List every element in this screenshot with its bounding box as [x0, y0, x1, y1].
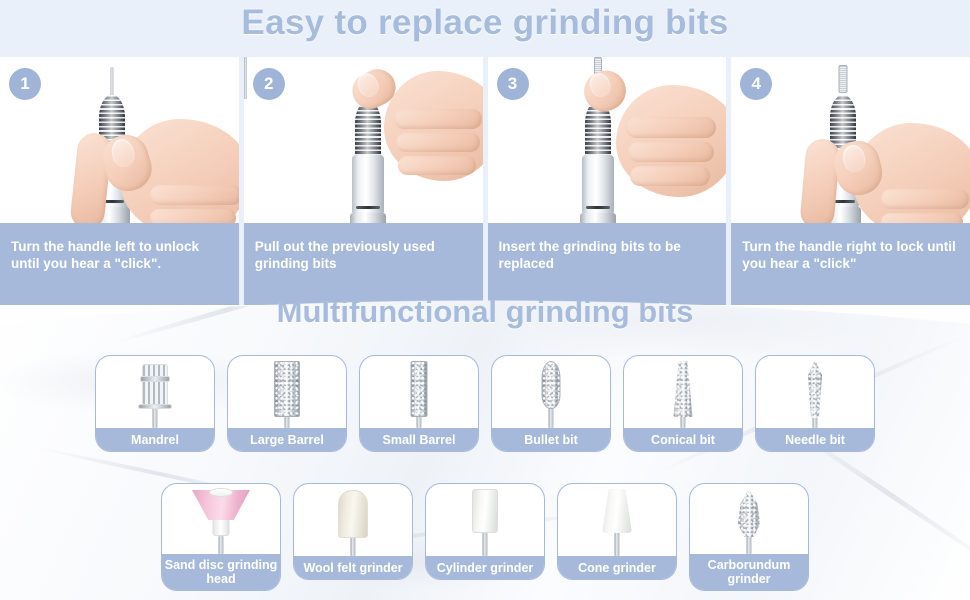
hand-removing-bit [244, 57, 247, 99]
conical-bit-icon [624, 356, 742, 428]
bit-label: Cone grinder [558, 556, 676, 579]
bit-card-cylinder-grinder[interactable]: Cylinder grinder [425, 483, 545, 580]
bit-label: Sand disc grinding head [162, 554, 280, 590]
bit-card-carborundum-grinder[interactable]: Carborundum grinder [689, 483, 809, 591]
bit-label: Bullet bit [492, 428, 610, 451]
needle-bit-icon [756, 356, 874, 428]
bit-label: Small Barrel [360, 428, 478, 451]
step-badge-4: 4 [740, 68, 772, 100]
bit-label: Needle bit [756, 428, 874, 451]
bit-card-sand-disc-grinding-head[interactable]: Sand disc grinding head [161, 483, 281, 591]
bit-card-mandrel[interactable]: Mandrel [95, 355, 215, 452]
bit-card-conical-bit[interactable]: Conical bit [623, 355, 743, 452]
step-badge-2: 2 [253, 68, 285, 100]
wool-felt-grinder-icon [294, 484, 412, 556]
cone-grinder-icon [558, 484, 676, 556]
cylinder-grinder-icon [426, 484, 544, 556]
bits-row-1: Mandrel Large Barrel Small Barrel Bullet… [0, 355, 970, 452]
bit-label: Conical bit [624, 428, 742, 451]
bit-card-cone-grinder[interactable]: Cone grinder [557, 483, 677, 580]
bits-section-title: Multifunctional grinding bits [0, 294, 970, 330]
drill-pen [578, 97, 618, 223]
step-badge-3: 3 [497, 68, 529, 100]
bit-card-needle-bit[interactable]: Needle bit [755, 355, 875, 452]
bit-card-wool-felt-grinder[interactable]: Wool felt grinder [293, 483, 413, 580]
large-barrel-icon [228, 356, 346, 428]
page-title: Easy to replace grinding bits [0, 3, 970, 43]
small-barrel-icon [360, 356, 478, 428]
bit-label: Cylinder grinder [426, 556, 544, 579]
product-infographic: Easy to replace grinding bits [0, 0, 970, 600]
bullet-bit-icon [492, 356, 610, 428]
bit-card-bullet-bit[interactable]: Bullet bit [491, 355, 611, 452]
carborundum-grinder-icon [690, 484, 808, 554]
mandrel-icon [96, 356, 214, 428]
drill-pen [348, 101, 388, 223]
bits-row-2: Sand disc grinding head Wool felt grinde… [0, 483, 970, 591]
bit-card-large-barrel[interactable]: Large Barrel [227, 355, 347, 452]
sand-disc-grinding-head-icon [162, 484, 280, 554]
bit-label: Mandrel [96, 428, 214, 451]
bit-card-small-barrel[interactable]: Small Barrel [359, 355, 479, 452]
bit-label: Carborundum grinder [690, 554, 808, 590]
bit-label: Wool felt grinder [294, 556, 412, 579]
removed-grinding-bit [244, 57, 247, 99]
step-badge-1: 1 [9, 68, 41, 100]
bit-label: Large Barrel [228, 428, 346, 451]
